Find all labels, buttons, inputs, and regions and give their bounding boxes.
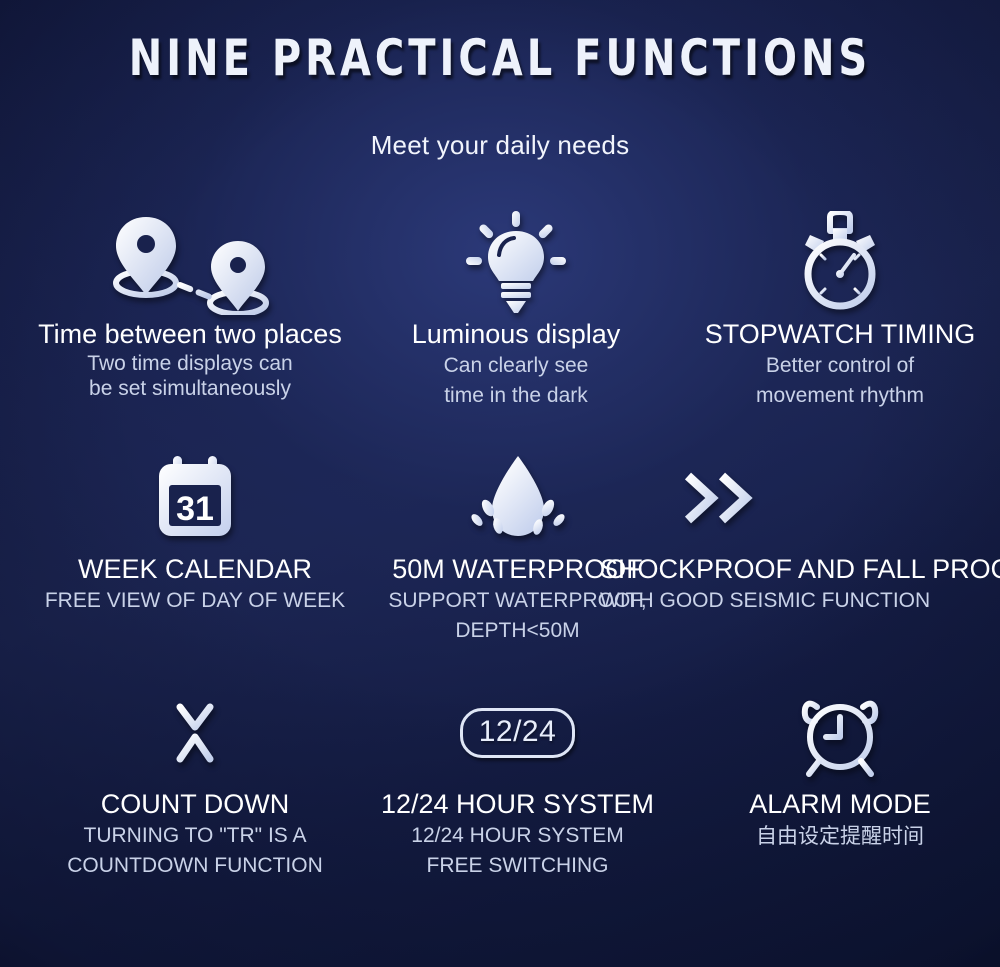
stopwatch-icon	[640, 208, 1000, 318]
feature-caption: STOPWATCH TIMING	[640, 318, 1000, 351]
feature-item-shockproof-and-fall-proof: SHOCKPROOF AND FALL PROOF WITH GOOD SEIS…	[600, 443, 1000, 616]
feature-description-line: 自由设定提醒时间	[640, 821, 1000, 851]
feature-item-stopwatch-timing: STOPWATCH TIMING Better control of movem…	[640, 208, 1000, 411]
feature-description-line: FREE SWITCHING	[275, 851, 760, 881]
shockproof-chevrons-icon	[600, 443, 835, 553]
page-subtitle: Meet your daily needs	[0, 128, 1000, 162]
feature-row-2: 31 WEEK CALENDAR FREE VIEW OF DAY OF WEE…	[0, 443, 1000, 678]
feature-poster: NINE PRACTICAL FUNCTIONS Meet your daily…	[0, 0, 1000, 967]
feature-description-line: WITH GOOD SEISMIC FUNCTION	[600, 586, 1000, 616]
page-title: NINE PRACTICAL FUNCTIONS	[100, 28, 900, 88]
feature-grid: Time between two places Two time display…	[0, 208, 1000, 928]
feature-row-3: COUNT DOWN TURNING TO "TR" IS A COUNTDOW…	[0, 678, 1000, 928]
feature-caption: SHOCKPROOF AND FALL PROOF	[600, 553, 1000, 586]
feature-description-line: Better control of	[640, 351, 1000, 381]
feature-description-line: movement rhythm	[640, 381, 1000, 411]
feature-caption: ALARM MODE	[640, 788, 1000, 821]
twelve-twentyfour-label: 12/24	[460, 708, 576, 758]
feature-item-alarm-mode: ALARM MODE 自由设定提醒时间	[640, 678, 1000, 851]
feature-row-1: Time between two places Two time display…	[0, 208, 1000, 443]
calendar-day-number: 31	[176, 490, 214, 528]
alarm-clock-icon	[640, 678, 1000, 788]
feature-description-line: DEPTH<50M	[260, 616, 775, 646]
